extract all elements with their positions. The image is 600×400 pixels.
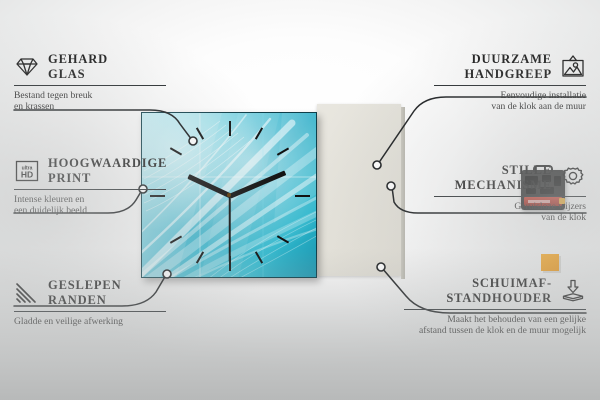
feature-header: SCHUIMAF- STANDHOUDER — [404, 276, 586, 305]
feature-description: Gladde en veilige afwerking — [14, 316, 166, 327]
feature-divider — [404, 309, 586, 310]
svg-text:HD: HD — [21, 169, 33, 179]
feature-divider — [434, 196, 586, 197]
wall-clock — [141, 112, 317, 278]
product-photo — [129, 98, 401, 280]
feature-divider — [434, 85, 586, 86]
clock-back-panel — [317, 104, 401, 276]
feature-divider — [14, 85, 166, 86]
feature-divider — [14, 189, 166, 190]
feature-description: Intense kleuren en een duidelijk beeld — [14, 194, 166, 217]
feature-header: DUURZAME HANDGREEP — [434, 52, 586, 81]
feature-title: DUURZAME HANDGREEP — [464, 52, 552, 81]
feature-header: GEHARD GLAS — [14, 52, 166, 81]
gear-icon — [560, 166, 586, 190]
bevelled-edges-icon — [14, 281, 40, 305]
feature-header: STILLE MECHANISME — [434, 163, 586, 192]
feature-description: Eenvoudige installatie van de klok aan d… — [434, 90, 586, 113]
feature-description: Bestand tegen breuk en krassen — [14, 90, 166, 113]
diamond-icon — [14, 55, 40, 79]
feature-title: GESLEPEN RANDEN — [48, 278, 122, 307]
feature-description: Geruisloze wijzers van de klok — [434, 201, 586, 224]
feature-title: SCHUIMAF- STANDHOUDER — [446, 276, 552, 305]
feature-description: Maakt het behouden van een gelijke afsta… — [404, 314, 586, 337]
clock-second-hand — [229, 196, 231, 262]
foam-spacer-pad — [541, 254, 559, 271]
feature-schuimafstandhouder: SCHUIMAF- STANDHOUDER Maakt het behouden… — [404, 276, 586, 337]
foam-spacer-icon — [560, 279, 586, 303]
infographic-canvas: GEHARD GLAS Bestand tegen breuk en krass… — [0, 0, 600, 400]
feature-stille-mechanisme: STILLE MECHANISME Geruisloze wijzers van… — [434, 163, 586, 224]
feature-hoogwaardige-print: ultra HD HOOGWAARDIGE PRINT Intense kleu… — [14, 156, 166, 217]
feature-divider — [14, 311, 166, 312]
feature-header: ultra HD HOOGWAARDIGE PRINT — [14, 156, 166, 185]
ultra-hd-icon: ultra HD — [14, 159, 40, 183]
feature-geslepen-randen: GESLEPEN RANDEN Gladde en veilige afwerk… — [14, 278, 166, 327]
picture-frame-icon — [560, 55, 586, 79]
feature-header: GESLEPEN RANDEN — [14, 278, 166, 307]
clock-center-hub — [227, 193, 231, 197]
feature-duurzame-handgreep: DUURZAME HANDGREEP Eenvoudige installati… — [434, 52, 586, 113]
clock-tick — [229, 121, 231, 136]
clock-tick — [295, 195, 310, 197]
feature-title: STILLE MECHANISME — [455, 163, 552, 192]
feature-gehard-glas: GEHARD GLAS Bestand tegen breuk en krass… — [14, 52, 166, 113]
feature-title: GEHARD GLAS — [48, 52, 108, 81]
feature-title: HOOGWAARDIGE PRINT — [48, 156, 167, 185]
